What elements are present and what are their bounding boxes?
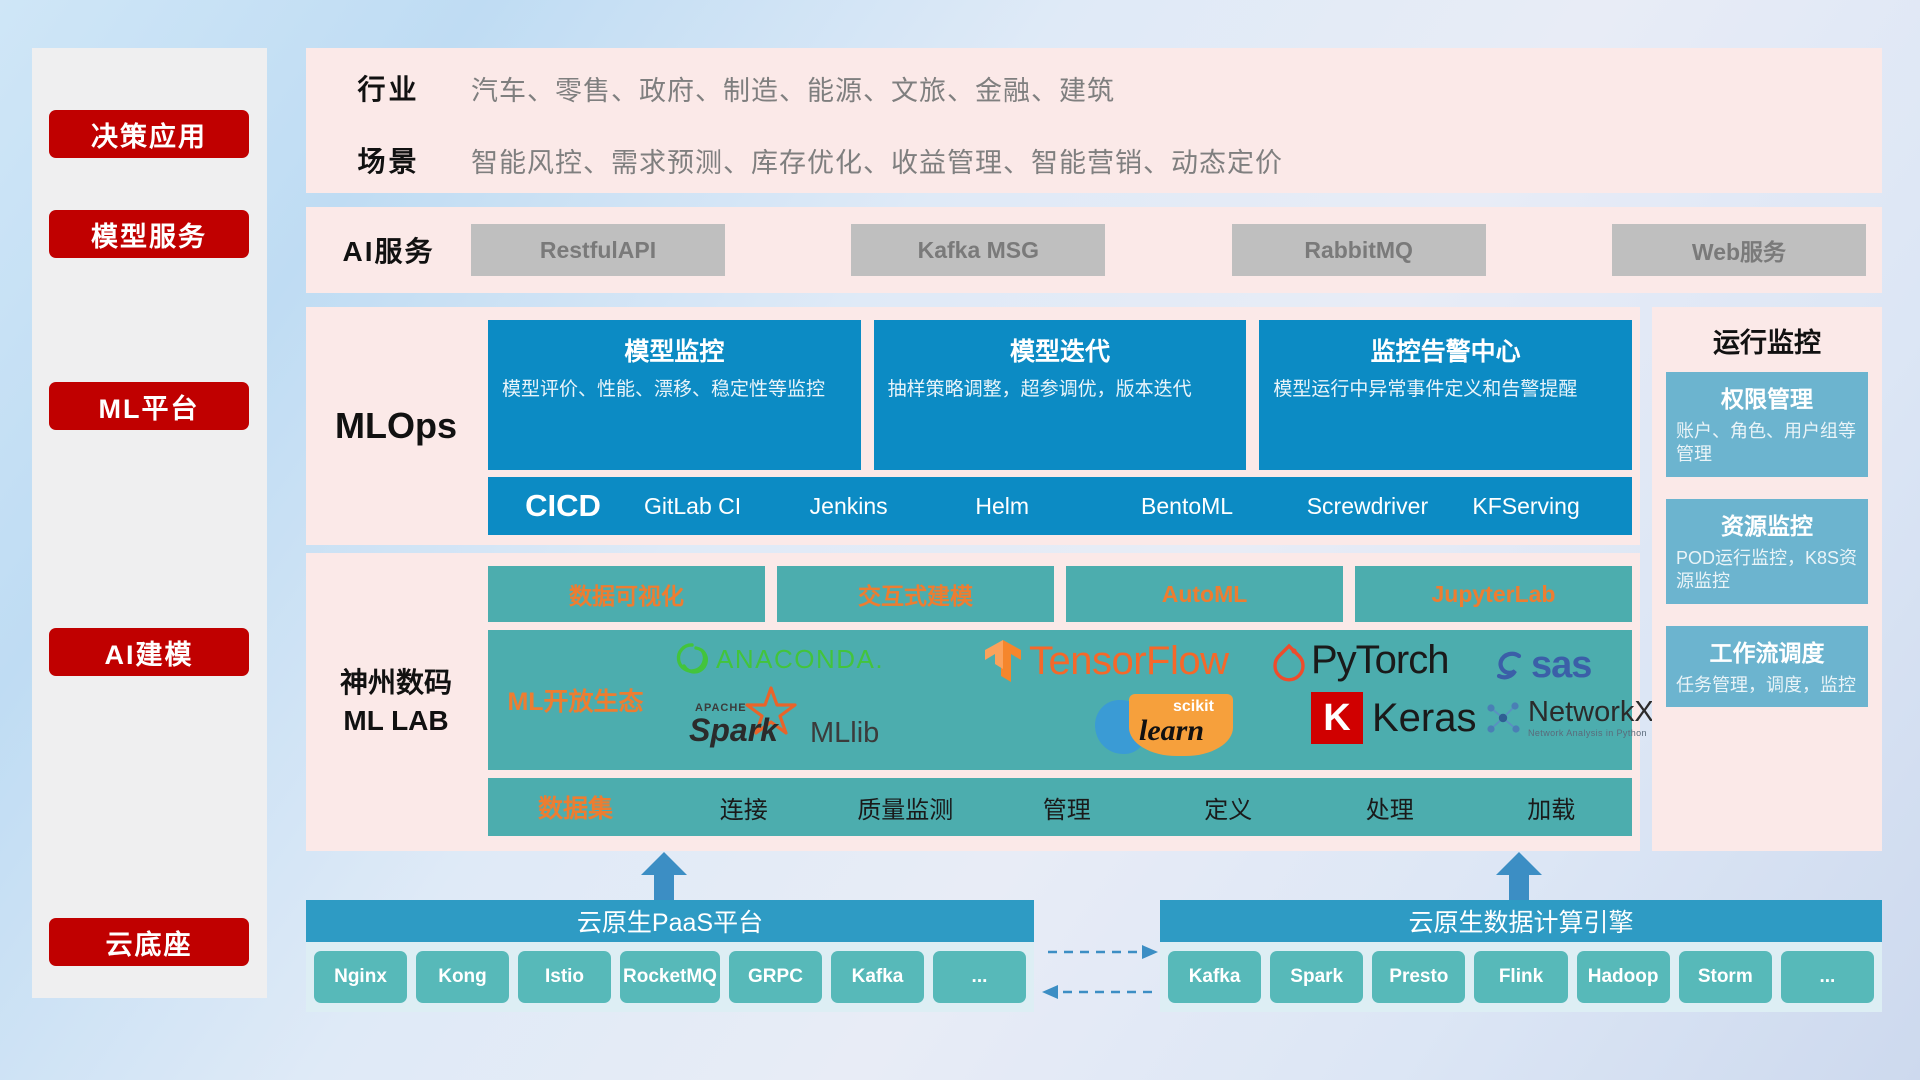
cloud-chip-grpc[interactable]: GRPC	[729, 951, 822, 1003]
monitor-card-desc: POD运行监控，K8S资源监控	[1676, 547, 1858, 594]
cloud-chip-rocketmq[interactable]: RocketMQ	[620, 951, 720, 1003]
learn-text: learn	[1139, 714, 1204, 748]
cloud-compute-chip-list: Kafka Spark Presto Flink Hadoop Storm ..…	[1160, 942, 1882, 1012]
mlops-card-model-iteration[interactable]: 模型迭代 抽样策略调整，超参调优，版本迭代	[874, 320, 1247, 470]
decision-apps-band: 行业 汽车、零售、政府、制造、能源、文旅、金融、建筑 场景 智能风控、需求预测、…	[306, 48, 1882, 193]
ai-service-chip-restfulapi[interactable]: RestfulAPI	[471, 224, 725, 276]
rail-label: 决策应用	[91, 115, 207, 154]
ai-service-band: AI服务 RestfulAPI Kafka MSG RabbitMQ Web服务	[306, 207, 1882, 293]
mlops-card-desc: 抽样策略调整，超参调优，版本迭代	[888, 378, 1233, 403]
mlops-card-model-monitoring[interactable]: 模型监控 模型评价、性能、漂移、稳定性等监控	[488, 320, 861, 470]
ml-lab-tool-jupyterlab[interactable]: JupyterLab	[1355, 566, 1632, 622]
scenario-row: 场景 智能风控、需求预测、库存优化、收益管理、智能营销、动态定价	[306, 124, 1882, 196]
monitor-card-workflow[interactable]: 工作流调度 任务管理，调度，监控	[1666, 626, 1868, 707]
keras-mark-icon: K	[1311, 692, 1363, 744]
dataset-item-load[interactable]: 加载	[1471, 790, 1633, 825]
cloud-chip-nginx[interactable]: Nginx	[314, 951, 407, 1003]
cicd-item-gitlab-ci[interactable]: GitLab CI	[638, 493, 804, 519]
mlops-card-title: 模型迭代	[888, 332, 1233, 368]
mlops-card-desc: 模型评价、性能、漂移、稳定性等监控	[502, 378, 847, 403]
dataset-item-list: 连接 质量监测 管理 定义 处理 加载	[663, 790, 1632, 825]
networkx-logo: NetworkX Network Analysis in Python	[1483, 698, 1654, 738]
monitor-card-title: 权限管理	[1676, 380, 1858, 414]
dataset-item-define[interactable]: 定义	[1148, 790, 1310, 825]
industry-key: 行业	[306, 68, 471, 108]
rail-item-ml-platform[interactable]: ML平台	[49, 382, 249, 430]
cloud-chip-kong[interactable]: Kong	[416, 951, 509, 1003]
networkx-wordmark: NetworkX	[1528, 698, 1654, 727]
ai-service-chip-rabbitmq[interactable]: RabbitMQ	[1232, 224, 1486, 276]
cloud-compute-header: 云原生数据计算引擎	[1160, 900, 1882, 942]
compute-up-arrow-icon	[1490, 852, 1548, 904]
ai-service-chip-list: RestfulAPI Kafka MSG RabbitMQ Web服务	[471, 224, 1882, 276]
anaconda-wordmark: ANACONDA.	[716, 644, 884, 675]
tensorflow-wordmark: TensorFlow	[1029, 639, 1229, 684]
rail-label: AI建模	[105, 633, 194, 672]
cloud-chip-istio[interactable]: Istio	[518, 951, 611, 1003]
tensorflow-logo: TensorFlow	[981, 638, 1229, 684]
ai-service-key: AI服务	[306, 230, 471, 270]
dataset-label: 数据集	[488, 789, 663, 825]
cloud-paas-chip-list: Nginx Kong Istio RocketMQ GRPC Kafka ...	[306, 942, 1034, 1012]
rail-label: 模型服务	[91, 215, 207, 254]
mllib-wordmark: MLlib	[810, 717, 879, 754]
compute-chip-kafka[interactable]: Kafka	[1168, 951, 1261, 1003]
cicd-item-kfserving[interactable]: KFServing	[1466, 493, 1632, 519]
keras-wordmark: Keras	[1372, 696, 1477, 741]
ml-ecosystem-logo-grid: ANACONDA. APACHE Spark MLlib	[663, 630, 1632, 770]
cloud-paas-header: 云原生PaaS平台	[306, 900, 1034, 942]
pytorch-wordmark: PyTorch	[1311, 638, 1449, 683]
monitor-card-title: 资源监控	[1676, 507, 1858, 541]
cicd-title: CICD	[488, 488, 638, 524]
networkx-graph-icon	[1483, 698, 1523, 738]
ai-service-chip-web-service[interactable]: Web服务	[1612, 224, 1866, 276]
monitor-card-resource[interactable]: 资源监控 POD运行监控，K8S资源监控	[1666, 499, 1868, 604]
pytorch-logo: PyTorch	[1273, 638, 1449, 683]
tensorflow-mark-icon	[981, 638, 1025, 684]
cicd-item-screwdriver[interactable]: Screwdriver	[1301, 493, 1467, 519]
cicd-strip: CICD GitLab CI Jenkins Helm BentoML Scre…	[488, 477, 1632, 535]
dataset-item-manage[interactable]: 管理	[986, 790, 1148, 825]
cloud-compute-group: 云原生数据计算引擎 Kafka Spark Presto Flink Hadoo…	[1160, 900, 1882, 1012]
ml-ecosystem-label: ML开放生态	[488, 682, 663, 718]
cloud-chip-more[interactable]: ...	[933, 951, 1026, 1003]
mlops-card-title: 模型监控	[502, 332, 847, 368]
monitor-card-desc: 账户、角色、用户组等管理	[1676, 420, 1858, 467]
sas-swirl-icon	[1491, 648, 1527, 684]
runtime-monitor-panel: 运行监控 权限管理 账户、角色、用户组等管理 资源监控 POD运行监控，K8S资…	[1652, 307, 1882, 851]
dataset-item-connect[interactable]: 连接	[663, 790, 825, 825]
anaconda-mark-icon	[675, 642, 709, 676]
paas-up-arrow-icon	[635, 852, 693, 904]
rail-label: 云底座	[106, 923, 193, 962]
spark-mllib-logo: APACHE Spark MLlib	[689, 692, 879, 754]
keras-logo: K Keras	[1311, 692, 1477, 744]
compute-chip-flink[interactable]: Flink	[1474, 951, 1567, 1003]
cicd-item-list: GitLab CI Jenkins Helm BentoML Screwdriv…	[638, 493, 1632, 519]
ml-lab-tool-data-visualization[interactable]: 数据可视化	[488, 566, 765, 622]
cicd-item-helm[interactable]: Helm	[969, 493, 1135, 519]
mlops-card-desc: 模型运行中异常事件定义和告警提醒	[1273, 378, 1618, 403]
bidirectional-link-arrows	[1040, 940, 1160, 1010]
compute-chip-hadoop[interactable]: Hadoop	[1577, 951, 1670, 1003]
networkx-tagline: Network Analysis in Python	[1528, 729, 1654, 738]
mlops-key: MLOps	[306, 307, 486, 545]
keras-k-glyph: K	[1323, 697, 1350, 740]
pytorch-flame-icon	[1273, 640, 1305, 682]
cloud-chip-kafka[interactable]: Kafka	[831, 951, 924, 1003]
monitor-card-permission[interactable]: 权限管理 账户、角色、用户组等管理	[1666, 372, 1868, 477]
compute-chip-more[interactable]: ...	[1781, 951, 1874, 1003]
mlops-band: MLOps 模型监控 模型评价、性能、漂移、稳定性等监控 模型迭代 抽样策略调整…	[306, 307, 1640, 545]
runtime-monitor-title: 运行监控	[1652, 307, 1882, 372]
mlops-card-alert-center[interactable]: 监控告警中心 模型运行中异常事件定义和告警提醒	[1259, 320, 1632, 470]
monitor-card-desc: 任务管理，调度，监控	[1676, 674, 1858, 697]
compute-chip-storm[interactable]: Storm	[1679, 951, 1772, 1003]
mlops-card-title: 监控告警中心	[1273, 332, 1618, 368]
monitor-card-title: 工作流调度	[1676, 634, 1858, 668]
cicd-item-bentoml[interactable]: BentoML	[1135, 493, 1301, 519]
dataset-item-quality-monitor[interactable]: 质量监测	[825, 790, 987, 825]
rail-item-decision-apps[interactable]: 决策应用	[49, 110, 249, 158]
scikit-learn-logo: scikit learn	[1095, 692, 1245, 758]
rail-label: ML平台	[99, 387, 200, 426]
rail-item-model-service[interactable]: 模型服务	[49, 210, 249, 258]
ml-lab-band: 神州数码 ML LAB 数据可视化 交互式建模 AutoML JupyterLa…	[306, 553, 1640, 851]
industry-row: 行业 汽车、零售、政府、制造、能源、文旅、金融、建筑	[306, 52, 1882, 124]
ml-lab-key-line2: ML LAB	[343, 702, 448, 740]
compute-chip-presto[interactable]: Presto	[1372, 951, 1465, 1003]
scenario-values: 智能风控、需求预测、库存优化、收益管理、智能营销、动态定价	[471, 141, 1283, 180]
ml-ecosystem-strip: ML开放生态 ANACONDA. APACHE Spark	[488, 630, 1632, 770]
left-stage-rail: 决策应用 模型服务 ML平台 AI建模 云底座	[32, 48, 267, 998]
compute-chip-spark[interactable]: Spark	[1270, 951, 1363, 1003]
ml-lab-tool-automl[interactable]: AutoML	[1066, 566, 1343, 622]
rail-item-cloud-base[interactable]: 云底座	[49, 918, 249, 966]
anaconda-logo: ANACONDA.	[675, 642, 884, 676]
sas-wordmark: sas	[1531, 644, 1591, 687]
cloud-paas-group: 云原生PaaS平台 Nginx Kong Istio RocketMQ GRPC…	[306, 900, 1034, 1012]
sas-logo: sas	[1491, 644, 1591, 687]
ml-lab-key: 神州数码 ML LAB	[306, 553, 486, 851]
dataset-item-process[interactable]: 处理	[1309, 790, 1471, 825]
dataset-strip: 数据集 连接 质量监测 管理 定义 处理 加载	[488, 778, 1632, 836]
cicd-item-jenkins[interactable]: Jenkins	[804, 493, 970, 519]
ai-service-chip-kafka-msg[interactable]: Kafka MSG	[851, 224, 1105, 276]
ml-lab-key-line1: 神州数码	[340, 664, 452, 702]
spark-wordmark: Spark	[689, 712, 778, 749]
mlops-card-list: 模型监控 模型评价、性能、漂移、稳定性等监控 模型迭代 抽样策略调整，超参调优，…	[488, 320, 1632, 470]
scenario-key: 场景	[306, 140, 471, 180]
ml-lab-tool-interactive-modeling[interactable]: 交互式建模	[777, 566, 1054, 622]
rail-item-ai-modeling[interactable]: AI建模	[49, 628, 249, 676]
ml-lab-tool-list: 数据可视化 交互式建模 AutoML JupyterLab	[488, 566, 1632, 622]
industry-values: 汽车、零售、政府、制造、能源、文旅、金融、建筑	[471, 69, 1115, 108]
